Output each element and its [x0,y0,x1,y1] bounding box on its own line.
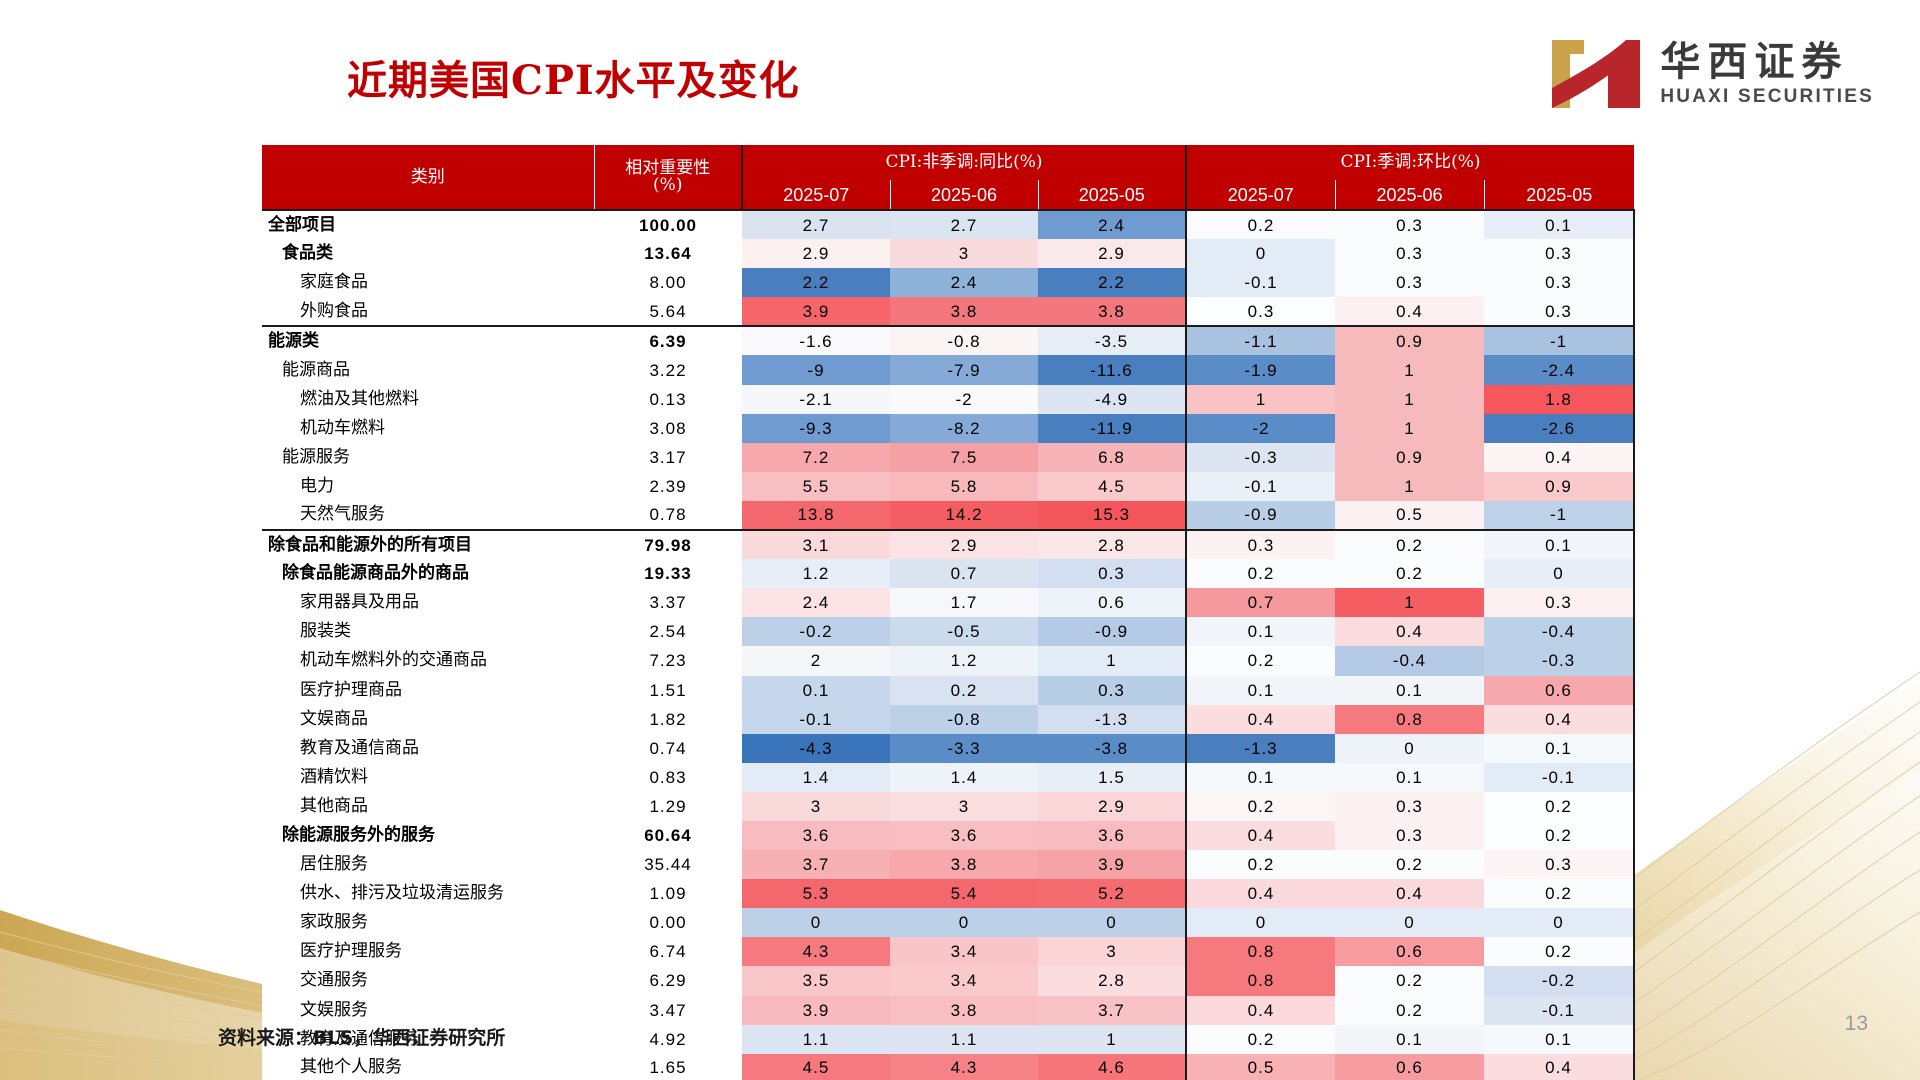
row-category-label: 服装类 [262,617,594,646]
cell-sa-mom-1: 0.2 [1335,850,1484,879]
cell-sa-mom-1: 0.1 [1335,676,1484,705]
cell-nsa-yoy-1: 0.7 [890,559,1038,588]
cell-sa-mom-1: 1 [1335,588,1484,617]
cell-nsa-yoy-1: -3.3 [890,734,1038,763]
row-category-label: 家庭食品 [262,268,594,297]
table-row: 家庭食品8.002.22.42.2-0.10.30.3 [262,268,1634,297]
cell-nsa-yoy-0: 1.4 [742,763,890,792]
cell-sa-mom-0: 0.2 [1186,1025,1335,1054]
cell-nsa-yoy-1: 0 [890,908,1038,937]
row-category-label: 天然气服务 [262,501,594,530]
row-relative-importance: 3.17 [594,443,742,472]
cell-nsa-yoy-1: 3 [890,792,1038,821]
cell-sa-mom-1: 0.3 [1335,239,1484,268]
cell-sa-mom-1: 0.3 [1335,268,1484,297]
cell-sa-mom-1: 0.1 [1335,763,1484,792]
table-row: 文娱商品1.82-0.1-0.8-1.30.40.80.4 [262,705,1634,734]
cell-sa-mom-2: 0.1 [1484,210,1634,239]
cell-nsa-yoy-2: -4.9 [1038,385,1186,414]
cell-nsa-yoy-0: 13.8 [742,501,890,530]
cell-sa-mom-0: 0.8 [1186,966,1335,995]
cell-sa-mom-2: 0 [1484,908,1634,937]
cell-sa-mom-2: -2.4 [1484,355,1634,384]
cell-sa-mom-1: 0.9 [1335,326,1484,355]
cell-nsa-yoy-0: -0.1 [742,705,890,734]
cell-sa-mom-2: 0.2 [1484,792,1634,821]
cell-nsa-yoy-0: 7.2 [742,443,890,472]
cell-nsa-yoy-1: 3.6 [890,821,1038,850]
cell-sa-mom-2: 0.6 [1484,676,1634,705]
row-relative-importance: 0.13 [594,385,742,414]
cell-nsa-yoy-0: -0.2 [742,617,890,646]
cell-sa-mom-2: -1 [1484,501,1634,530]
cell-sa-mom-0: 0.4 [1186,705,1335,734]
cell-nsa-yoy-2: 2.8 [1038,966,1186,995]
cell-sa-mom-0: 0.2 [1186,559,1335,588]
cell-nsa-yoy-0: 2.4 [742,588,890,617]
table-row: 医疗护理服务6.744.33.430.80.60.2 [262,937,1634,966]
cell-nsa-yoy-1: 3.4 [890,966,1038,995]
header-nsa-month-2: 2025-05 [1038,180,1186,210]
table-row: 机动车燃料外的交通商品7.2321.210.2-0.4-0.3 [262,646,1634,675]
cell-nsa-yoy-2: 2.2 [1038,268,1186,297]
row-relative-importance: 3.37 [594,588,742,617]
cell-nsa-yoy-0: 3 [742,792,890,821]
cell-sa-mom-2: 0.1 [1484,734,1634,763]
cell-sa-mom-2: 0.2 [1484,937,1634,966]
cell-sa-mom-1: 1 [1335,414,1484,443]
cell-nsa-yoy-2: -3.8 [1038,734,1186,763]
table-body: 全部项目100.002.72.72.40.20.30.1食品类13.642.93… [262,210,1634,1080]
source-note: 资料来源：BLS，华西证券研究所 [218,1023,505,1050]
row-relative-importance: 1.65 [594,1054,742,1080]
row-category-label: 家用器具及用品 [262,588,594,617]
cell-sa-mom-0: -0.9 [1186,501,1335,530]
row-category-label: 能源商品 [262,355,594,384]
cell-sa-mom-2: -1 [1484,326,1634,355]
cell-sa-mom-1: 0.6 [1335,937,1484,966]
cell-nsa-yoy-1: 5.4 [890,879,1038,908]
cell-sa-mom-2: -0.4 [1484,617,1634,646]
cell-nsa-yoy-1: 3.8 [890,850,1038,879]
row-relative-importance: 35.44 [594,850,742,879]
cell-sa-mom-2: 0.2 [1484,879,1634,908]
cell-sa-mom-1: 0.6 [1335,1054,1484,1080]
header-sa-month-2: 2025-05 [1484,180,1634,210]
cell-nsa-yoy-2: 1.5 [1038,763,1186,792]
cell-nsa-yoy-2: 0 [1038,908,1186,937]
row-category-label: 文娱商品 [262,705,594,734]
row-category-label: 除食品和能源外的所有项目 [262,530,594,559]
cell-sa-mom-0: -2 [1186,414,1335,443]
cell-nsa-yoy-1: 3.8 [890,297,1038,326]
cell-nsa-yoy-2: 5.2 [1038,879,1186,908]
row-relative-importance: 100.00 [594,210,742,239]
header-group-nsa: CPI:非季调:同比(%) [742,145,1186,180]
table-row: 燃油及其他燃料0.13-2.1-2-4.9111.8 [262,385,1634,414]
cell-sa-mom-1: 0.3 [1335,821,1484,850]
row-category-label: 文娱服务 [262,996,594,1025]
cell-sa-mom-0: -0.3 [1186,443,1335,472]
cell-nsa-yoy-0: 3.5 [742,966,890,995]
cell-nsa-yoy-2: -0.9 [1038,617,1186,646]
cell-nsa-yoy-2: 3.6 [1038,821,1186,850]
row-relative-importance: 0.78 [594,501,742,530]
row-category-label: 能源服务 [262,443,594,472]
row-relative-importance: 0.83 [594,763,742,792]
cell-sa-mom-0: 0.1 [1186,763,1335,792]
page-number: 13 [1845,1012,1868,1036]
cell-nsa-yoy-1: -0.8 [890,326,1038,355]
cpi-table-container: 类别 相对重要性 (%) CPI:非季调:同比(%) CPI:季调:环比(%) … [262,145,1634,1080]
row-relative-importance: 60.64 [594,821,742,850]
cell-nsa-yoy-1: 2.9 [890,530,1038,559]
cell-sa-mom-2: 1.8 [1484,385,1634,414]
cell-sa-mom-0: 0.1 [1186,617,1335,646]
cell-nsa-yoy-1: 1.1 [890,1025,1038,1054]
cell-nsa-yoy-1: 1.4 [890,763,1038,792]
row-relative-importance: 1.09 [594,879,742,908]
row-relative-importance: 2.39 [594,472,742,501]
cell-sa-mom-1: 0.8 [1335,705,1484,734]
cell-nsa-yoy-0: 2 [742,646,890,675]
cell-nsa-yoy-0: 5.3 [742,879,890,908]
row-category-label: 除食品能源商品外的商品 [262,559,594,588]
header-nsa-month-0: 2025-07 [742,180,890,210]
table-row: 医疗护理商品1.510.10.20.30.10.10.6 [262,676,1634,705]
cell-sa-mom-2: 0.1 [1484,530,1634,559]
row-relative-importance: 0.00 [594,908,742,937]
cell-sa-mom-1: 0.9 [1335,443,1484,472]
table-row: 机动车燃料3.08-9.3-8.2-11.9-21-2.6 [262,414,1634,443]
row-relative-importance: 8.00 [594,268,742,297]
cell-nsa-yoy-0: 2.2 [742,268,890,297]
cell-nsa-yoy-2: 4.5 [1038,472,1186,501]
cell-sa-mom-0: 0.1 [1186,676,1335,705]
cell-nsa-yoy-0: 3.7 [742,850,890,879]
cell-nsa-yoy-2: 2.9 [1038,239,1186,268]
cell-sa-mom-2: 0.4 [1484,443,1634,472]
cell-nsa-yoy-2: 0.3 [1038,559,1186,588]
row-category-label: 居住服务 [262,850,594,879]
logo-name-en: HUAXI SECURITIES [1660,86,1874,108]
cell-sa-mom-1: 0.2 [1335,966,1484,995]
row-relative-importance: 2.54 [594,617,742,646]
cell-nsa-yoy-2: 1 [1038,646,1186,675]
cell-sa-mom-1: 0.2 [1335,996,1484,1025]
row-category-label: 全部项目 [262,210,594,239]
table-row: 除能源服务外的服务60.643.63.63.60.40.30.2 [262,821,1634,850]
cell-sa-mom-2: 0.4 [1484,705,1634,734]
row-relative-importance: 13.64 [594,239,742,268]
cell-nsa-yoy-2: 2.8 [1038,530,1186,559]
row-relative-importance: 1.29 [594,792,742,821]
table-row: 文娱服务3.473.93.83.70.40.2-0.1 [262,996,1634,1025]
cell-sa-mom-1: 1 [1335,355,1484,384]
cell-nsa-yoy-1: 1.7 [890,588,1038,617]
page-title: 近期美国CPI水平及变化 [347,48,800,106]
cell-nsa-yoy-1: 3.8 [890,996,1038,1025]
row-relative-importance: 6.39 [594,326,742,355]
cell-nsa-yoy-1: 4.3 [890,1054,1038,1080]
cell-sa-mom-2: 0.3 [1484,268,1634,297]
cell-sa-mom-0: 0.8 [1186,937,1335,966]
row-category-label: 酒精饮料 [262,763,594,792]
cell-sa-mom-1: 0 [1335,734,1484,763]
cell-sa-mom-0: 0.3 [1186,297,1335,326]
cell-nsa-yoy-0: -9.3 [742,414,890,443]
row-relative-importance: 3.47 [594,996,742,1025]
cell-sa-mom-2: 0 [1484,559,1634,588]
cell-nsa-yoy-0: 1.1 [742,1025,890,1054]
table-row: 居住服务35.443.73.83.90.20.20.3 [262,850,1634,879]
table-row: 外购食品5.643.93.83.80.30.40.3 [262,297,1634,326]
cell-nsa-yoy-2: -11.6 [1038,355,1186,384]
cell-sa-mom-0: 0.2 [1186,210,1335,239]
cell-sa-mom-0: 0.3 [1186,530,1335,559]
cell-nsa-yoy-0: 0.1 [742,676,890,705]
row-category-label: 医疗护理服务 [262,937,594,966]
cell-sa-mom-2: -0.3 [1484,646,1634,675]
header-relative-importance-line2: (%) [595,177,742,194]
cell-nsa-yoy-0: 0 [742,908,890,937]
cell-nsa-yoy-0: 3.1 [742,530,890,559]
cell-nsa-yoy-2: 6.8 [1038,443,1186,472]
cell-nsa-yoy-0: 2.7 [742,210,890,239]
table-row: 能源服务3.177.27.56.8-0.30.90.4 [262,443,1634,472]
row-category-label: 能源类 [262,326,594,355]
logo-name-cn: 华西证券 [1660,41,1848,83]
huaxi-h-mark-icon [1548,34,1644,114]
cell-nsa-yoy-0: 1.2 [742,559,890,588]
cell-nsa-yoy-1: 7.5 [890,443,1038,472]
header-sa-month-1: 2025-06 [1335,180,1484,210]
cell-sa-mom-0: 0.4 [1186,821,1335,850]
cell-sa-mom-2: 0.4 [1484,1054,1634,1080]
cell-sa-mom-0: 1 [1186,385,1335,414]
cell-sa-mom-1: 0.1 [1335,1025,1484,1054]
cell-nsa-yoy-2: -11.9 [1038,414,1186,443]
cell-nsa-yoy-0: -4.3 [742,734,890,763]
cell-sa-mom-2: 0.3 [1484,297,1634,326]
cell-sa-mom-0: -1.3 [1186,734,1335,763]
cell-sa-mom-2: 0.3 [1484,588,1634,617]
cell-sa-mom-0: 0 [1186,908,1335,937]
row-category-label: 家政服务 [262,908,594,937]
cell-nsa-yoy-0: 4.5 [742,1054,890,1080]
row-category-label: 除能源服务外的服务 [262,821,594,850]
cell-sa-mom-2: 0.1 [1484,1025,1634,1054]
cell-nsa-yoy-2: 15.3 [1038,501,1186,530]
cell-sa-mom-0: -1.1 [1186,326,1335,355]
cell-sa-mom-1: 0.3 [1335,792,1484,821]
row-relative-importance: 1.51 [594,676,742,705]
table-row: 天然气服务0.7813.814.215.3-0.90.5-1 [262,501,1634,530]
cell-nsa-yoy-2: 2.9 [1038,792,1186,821]
cell-nsa-yoy-2: 0.6 [1038,588,1186,617]
row-category-label: 外购食品 [262,297,594,326]
cell-sa-mom-0: 0.4 [1186,879,1335,908]
cell-nsa-yoy-0: -1.6 [742,326,890,355]
cell-nsa-yoy-0: 3.9 [742,996,890,1025]
table-row: 食品类13.642.932.900.30.3 [262,239,1634,268]
cell-nsa-yoy-1: 2.7 [890,210,1038,239]
cell-sa-mom-1: 0.2 [1335,559,1484,588]
row-relative-importance: 3.08 [594,414,742,443]
cell-sa-mom-2: -0.1 [1484,763,1634,792]
header-category: 类别 [262,145,594,210]
table-row: 其他商品1.29332.90.20.30.2 [262,792,1634,821]
cell-nsa-yoy-1: 2.4 [890,268,1038,297]
row-category-label: 交通服务 [262,966,594,995]
cell-sa-mom-2: -0.2 [1484,966,1634,995]
table-row: 交通服务6.293.53.42.80.80.2-0.2 [262,966,1634,995]
cell-nsa-yoy-1: 5.8 [890,472,1038,501]
cell-sa-mom-1: 0.3 [1335,210,1484,239]
table-row: 电力2.395.55.84.5-0.110.9 [262,472,1634,501]
cell-sa-mom-0: 0.7 [1186,588,1335,617]
row-category-label: 其他个人服务 [262,1054,594,1080]
cell-nsa-yoy-1: 3 [890,239,1038,268]
table-row: 教育及通信商品0.74-4.3-3.3-3.8-1.300.1 [262,734,1634,763]
cell-sa-mom-0: -0.1 [1186,268,1335,297]
header-nsa-month-1: 2025-06 [890,180,1038,210]
cell-nsa-yoy-2: 1 [1038,1025,1186,1054]
cell-nsa-yoy-2: -3.5 [1038,326,1186,355]
cell-sa-mom-0: 0.4 [1186,996,1335,1025]
cell-sa-mom-0: 0.2 [1186,850,1335,879]
cell-sa-mom-1: 0.2 [1335,530,1484,559]
table-row: 能源商品3.22-9-7.9-11.6-1.91-2.4 [262,355,1634,384]
row-category-label: 教育及通信商品 [262,734,594,763]
table-row: 服装类2.54-0.2-0.5-0.90.10.4-0.4 [262,617,1634,646]
cell-nsa-yoy-0: -9 [742,355,890,384]
cell-sa-mom-2: 0.3 [1484,850,1634,879]
cell-nsa-yoy-0: 2.9 [742,239,890,268]
cell-nsa-yoy-2: 3.8 [1038,297,1186,326]
cell-nsa-yoy-0: 3.6 [742,821,890,850]
cell-nsa-yoy-1: -8.2 [890,414,1038,443]
table-row: 全部项目100.002.72.72.40.20.30.1 [262,210,1634,239]
cell-nsa-yoy-0: -2.1 [742,385,890,414]
table-row: 家政服务0.00000000 [262,908,1634,937]
cell-nsa-yoy-1: -7.9 [890,355,1038,384]
table-row: 除食品和能源外的所有项目79.983.12.92.80.30.20.1 [262,530,1634,559]
cell-sa-mom-2: 0.9 [1484,472,1634,501]
row-category-label: 供水、排污及垃圾清运服务 [262,879,594,908]
cell-sa-mom-1: -0.4 [1335,646,1484,675]
row-relative-importance: 0.74 [594,734,742,763]
cell-nsa-yoy-1: -0.8 [890,705,1038,734]
cell-nsa-yoy-2: 3.9 [1038,850,1186,879]
row-relative-importance: 6.29 [594,966,742,995]
cell-nsa-yoy-1: 0.2 [890,676,1038,705]
cell-sa-mom-1: 0.4 [1335,617,1484,646]
header-sa-month-0: 2025-07 [1186,180,1335,210]
row-category-label: 电力 [262,472,594,501]
cell-sa-mom-1: 0.4 [1335,879,1484,908]
cell-sa-mom-1: 1 [1335,472,1484,501]
row-category-label: 机动车燃料 [262,414,594,443]
cell-nsa-yoy-2: 0.3 [1038,676,1186,705]
cell-nsa-yoy-1: -0.5 [890,617,1038,646]
cell-nsa-yoy-0: 5.5 [742,472,890,501]
row-relative-importance: 5.64 [594,297,742,326]
header-group-sa: CPI:季调:环比(%) [1186,145,1634,180]
cell-nsa-yoy-1: 1.2 [890,646,1038,675]
row-category-label: 食品类 [262,239,594,268]
row-relative-importance: 19.33 [594,559,742,588]
company-logo: 华西证券 HUAXI SECURITIES [1548,34,1874,114]
cell-sa-mom-0: 0.2 [1186,646,1335,675]
cell-sa-mom-0: -0.1 [1186,472,1335,501]
cell-sa-mom-1: 0 [1335,908,1484,937]
table-row: 能源类6.39-1.6-0.8-3.5-1.10.9-1 [262,326,1634,355]
row-relative-importance: 4.92 [594,1025,742,1054]
cell-sa-mom-0: -1.9 [1186,355,1335,384]
cell-sa-mom-0: 0 [1186,239,1335,268]
table-header: 类别 相对重要性 (%) CPI:非季调:同比(%) CPI:季调:环比(%) … [262,145,1634,210]
table-row: 酒精饮料0.831.41.41.50.10.1-0.1 [262,763,1634,792]
cell-sa-mom-1: 0.4 [1335,297,1484,326]
row-category-label: 机动车燃料外的交通商品 [262,646,594,675]
cell-nsa-yoy-0: 4.3 [742,937,890,966]
cell-nsa-yoy-1: -2 [890,385,1038,414]
cell-nsa-yoy-2: 2.4 [1038,210,1186,239]
cell-sa-mom-2: -0.1 [1484,996,1634,1025]
cell-nsa-yoy-2: 3 [1038,937,1186,966]
cell-sa-mom-1: 0.5 [1335,501,1484,530]
table-row: 家用器具及用品3.372.41.70.60.710.3 [262,588,1634,617]
table-row: 供水、排污及垃圾清运服务1.095.35.45.20.40.40.2 [262,879,1634,908]
row-relative-importance: 79.98 [594,530,742,559]
cell-sa-mom-1: 1 [1335,385,1484,414]
table-row: 其他个人服务1.654.54.34.60.50.60.4 [262,1054,1634,1080]
cell-sa-mom-2: 0.2 [1484,821,1634,850]
cell-nsa-yoy-1: 3.4 [890,937,1038,966]
cell-sa-mom-2: 0.3 [1484,239,1634,268]
row-category-label: 医疗护理商品 [262,676,594,705]
cell-sa-mom-0: 0.5 [1186,1054,1335,1080]
cpi-table: 类别 相对重要性 (%) CPI:非季调:同比(%) CPI:季调:环比(%) … [262,145,1635,1080]
cell-sa-mom-2: -2.6 [1484,414,1634,443]
table-row: 除食品能源商品外的商品19.331.20.70.30.20.20 [262,559,1634,588]
row-relative-importance: 3.22 [594,355,742,384]
cell-nsa-yoy-2: 4.6 [1038,1054,1186,1080]
cell-nsa-yoy-0: 3.9 [742,297,890,326]
cell-nsa-yoy-2: -1.3 [1038,705,1186,734]
cell-nsa-yoy-1: 14.2 [890,501,1038,530]
row-relative-importance: 1.82 [594,705,742,734]
row-category-label: 其他商品 [262,792,594,821]
row-relative-importance: 7.23 [594,646,742,675]
cell-nsa-yoy-2: 3.7 [1038,996,1186,1025]
row-category-label: 燃油及其他燃料 [262,385,594,414]
header-relative-importance: 相对重要性 (%) [594,145,742,210]
cell-sa-mom-0: 0.2 [1186,792,1335,821]
row-relative-importance: 6.74 [594,937,742,966]
